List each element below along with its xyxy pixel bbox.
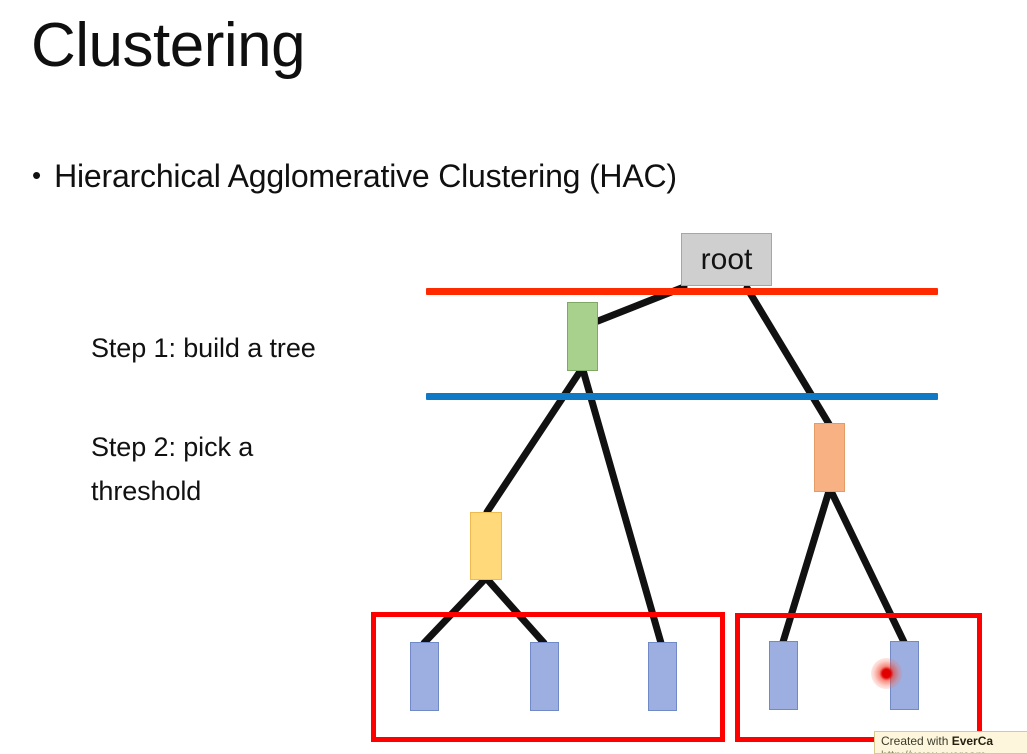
tree-node-root[interactable]: root: [681, 233, 772, 286]
edge-green-leaf3: [583, 370, 661, 643]
watermark-line-2: http://www.evercam: [881, 748, 1027, 754]
tree-node-yellow[interactable]: [470, 512, 502, 580]
watermark-brand: EverCa: [952, 734, 993, 748]
cluster-box-left[interactable]: [371, 612, 725, 742]
slide-canvas: Clustering • Hierarchical Agglomerative …: [0, 0, 1027, 754]
tree-node-root-label: root: [701, 243, 753, 277]
edge-green-yellow: [487, 370, 581, 512]
tree-node-orange[interactable]: [814, 423, 845, 492]
lower-threshold-line[interactable]: [426, 393, 938, 400]
hac-dendrogram-diagram: root: [0, 0, 1027, 754]
cluster-box-right[interactable]: [735, 613, 982, 742]
watermark-prefix: Created with: [881, 734, 952, 748]
watermark-badge: Created with EverCa http://www.evercam: [874, 731, 1027, 754]
upper-threshold-line[interactable]: [426, 288, 938, 295]
watermark-line-1: Created with EverCa: [881, 734, 1027, 748]
edge-root-orange: [747, 288, 829, 424]
tree-node-green[interactable]: [567, 302, 598, 371]
